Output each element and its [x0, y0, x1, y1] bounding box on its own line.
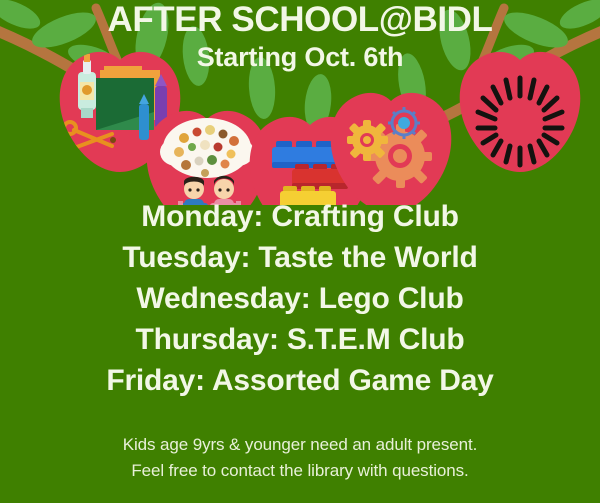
apple-garland-banner — [0, 0, 600, 205]
schedule-item-wednesday: Wednesday: Lego Club — [0, 278, 600, 319]
schedule-item-monday: Monday: Crafting Club — [0, 196, 600, 237]
footer-note: Kids age 9yrs & younger need an adult pr… — [0, 432, 600, 485]
apple-game-day — [460, 52, 581, 172]
footer-line-contact-library: Feel free to contact the library with qu… — [0, 458, 600, 484]
apple-taste-the-world — [147, 111, 268, 205]
after-school-flyer: AFTER SCHOOL@BIDL Starting Oct. 6th Mond… — [0, 0, 600, 503]
schedule-item-friday: Friday: Assorted Game Day — [0, 360, 600, 401]
weekly-schedule-list: Monday: Crafting Club Tuesday: Taste the… — [0, 196, 600, 401]
apple-stem — [331, 93, 452, 205]
footer-line-adult-supervision: Kids age 9yrs & younger need an adult pr… — [0, 432, 600, 458]
schedule-item-thursday: Thursday: S.T.E.M Club — [0, 319, 600, 360]
schedule-item-tuesday: Tuesday: Taste the World — [0, 237, 600, 278]
